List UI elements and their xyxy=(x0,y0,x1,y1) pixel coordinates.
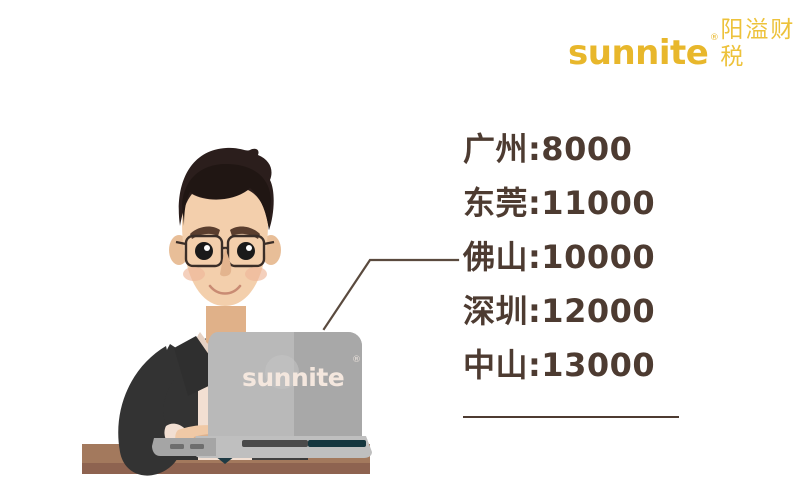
pad-key-2 xyxy=(190,444,204,449)
eye-right xyxy=(237,242,255,260)
laptop-registered-icon: ® xyxy=(352,355,361,365)
poster-canvas: sunnite ® 阳溢财税 xyxy=(0,0,800,496)
callout-leader-line xyxy=(310,245,470,345)
price-row-dongguan: 东莞:11000 xyxy=(463,187,763,219)
eye-left xyxy=(195,242,213,260)
city-price-list: 广州:8000 东莞:11000 佛山:10000 深圳:12000 中山:13… xyxy=(463,133,763,403)
cheek-right xyxy=(245,267,267,281)
brand-wordmark: sunnite ® xyxy=(568,36,708,70)
price-row-shenzhen: 深圳:12000 xyxy=(463,295,763,327)
pad-key-1 xyxy=(170,444,184,449)
laptop-base-strip-teal xyxy=(308,440,366,447)
brand-wordmark-text: sunnite xyxy=(568,33,708,73)
desk-front xyxy=(82,463,370,474)
cheek-left xyxy=(183,267,205,281)
eye-left-highlight xyxy=(204,245,210,251)
price-list-underline xyxy=(463,416,679,418)
price-row-foshan: 佛山:10000 xyxy=(463,241,763,273)
leader-line-path xyxy=(324,260,458,329)
brand-logo: sunnite ® 阳溢财税 xyxy=(568,28,800,70)
registered-trademark-icon: ® xyxy=(710,34,719,43)
brand-chinese-name: 阳溢财税 xyxy=(720,17,800,70)
price-row-guangzhou: 广州:8000 xyxy=(463,133,763,165)
price-row-zhongshan: 中山:13000 xyxy=(463,349,763,381)
eye-right-highlight xyxy=(246,245,252,251)
laptop-brand-wordmark: sunnite xyxy=(242,363,344,392)
laptop-base-strip-dark xyxy=(242,440,308,447)
